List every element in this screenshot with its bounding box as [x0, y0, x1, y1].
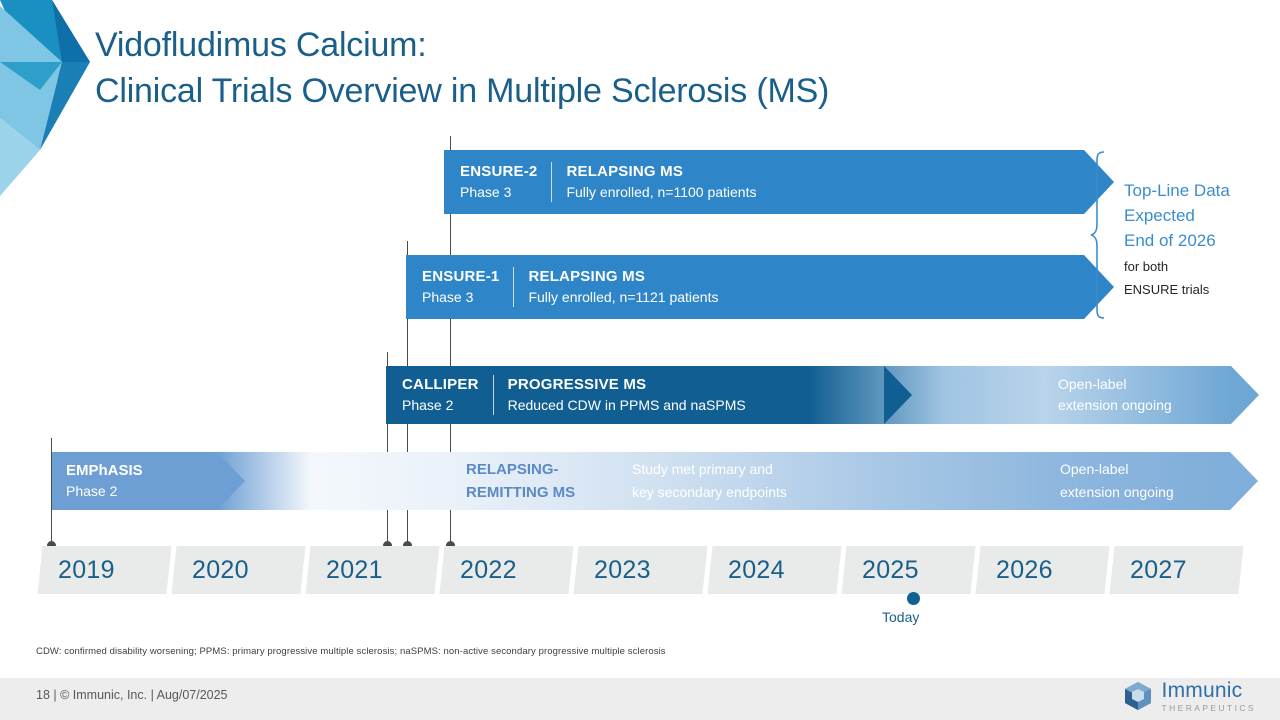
extension-line-2: extension ongoing: [1058, 395, 1172, 416]
annotation-line-3: End of 2026: [1124, 228, 1274, 253]
timeline-year-2020[interactable]: 2020: [171, 546, 305, 594]
annotation-line-2: Expected: [1124, 203, 1274, 228]
trial-bar-emphasis[interactable]: EMPhASIS Phase 2 RELAPSING- REMITTING MS…: [52, 452, 1230, 510]
chevron-arrowhead-icon: [1230, 452, 1258, 510]
topline-data-annotation: Top-Line Data Expected End of 2026 for b…: [1124, 178, 1274, 299]
condition-line-2: REMITTING MS: [466, 481, 626, 504]
year-label: 2020: [174, 546, 303, 594]
today-label: Today: [882, 609, 919, 625]
trial-code-ensure-2: ENSURE-2 Phase 3: [444, 162, 537, 203]
trial-name: ENSURE-1: [422, 267, 499, 287]
trial-phase: Phase 2: [402, 395, 479, 416]
immunic-logo: Immunic THERAPEUTICS: [1122, 676, 1256, 716]
year-label: 2021: [308, 546, 437, 594]
abbreviations-footnote: CDW: confirmed disability worsening; PPM…: [36, 646, 666, 657]
trial-bar-ensure-1[interactable]: ENSURE-1 Phase 3 RELAPSING MS Fully enro…: [406, 255, 1084, 319]
trial-name: CALLIPER: [402, 375, 479, 395]
divider: [551, 162, 552, 202]
timeline-year-2025[interactable]: 2025: [841, 546, 975, 594]
trial-condition-emphasis: RELAPSING- REMITTING MS: [466, 452, 626, 510]
today-marker-dot: [907, 592, 920, 605]
timeline-year-2022[interactable]: 2022: [439, 546, 573, 594]
timeline-year-2024[interactable]: 2024: [707, 546, 841, 594]
page-title: Vidofludimus Calcium: Clinical Trials Ov…: [95, 22, 1095, 114]
timeline-year-2026[interactable]: 2026: [975, 546, 1109, 594]
logo-tagline: THERAPEUTICS: [1162, 704, 1256, 713]
title-line-2: Clinical Trials Overview in Multiple Scl…: [95, 68, 1095, 114]
annotation-sub-line-1: for both: [1124, 257, 1274, 276]
divider: [513, 267, 514, 307]
slide-canvas: Vidofludimus Calcium: Clinical Trials Ov…: [0, 0, 1280, 720]
annotation-line-1: Top-Line Data: [1124, 178, 1274, 203]
trial-extension-calliper: Open-label extension ongoing: [1058, 366, 1172, 424]
trial-phase: Phase 3: [460, 182, 537, 203]
trial-code-emphasis: EMPhASIS Phase 2: [66, 452, 143, 510]
trial-extension-emphasis: Open-label extension ongoing: [1060, 452, 1174, 510]
trial-status: Fully enrolled, n=1100 patients: [566, 182, 1084, 203]
extension-line-1: Open-label: [1060, 458, 1174, 481]
year-label: 2022: [442, 546, 571, 594]
result-line-1: Study met primary and: [632, 458, 892, 481]
year-label: 2019: [40, 546, 169, 594]
grouping-brace-icon: [1090, 150, 1106, 320]
logo-wordmark: Immunic THERAPEUTICS: [1162, 680, 1256, 713]
trial-phase: Phase 3: [422, 287, 499, 308]
timeline-year-2027[interactable]: 2027: [1109, 546, 1243, 594]
extension-line-2: extension ongoing: [1060, 481, 1174, 504]
logo-name: Immunic: [1162, 680, 1256, 701]
year-label: 2027: [1112, 546, 1241, 594]
trial-code-calliper: CALLIPER Phase 2: [386, 375, 479, 416]
extension-line-1: Open-label: [1058, 374, 1172, 395]
year-label: 2026: [978, 546, 1107, 594]
trial-details-ensure-2: RELAPSING MS Fully enrolled, n=1100 pati…: [566, 162, 1084, 203]
title-line-1: Vidofludimus Calcium:: [95, 26, 427, 64]
trial-condition: RELAPSING MS: [566, 162, 1084, 182]
year-label: 2023: [576, 546, 705, 594]
trial-details-ensure-1: RELAPSING MS Fully enrolled, n=1121 pati…: [528, 267, 1084, 308]
timeline-year-2019[interactable]: 2019: [37, 546, 171, 594]
result-line-2: key secondary endpoints: [632, 481, 892, 504]
year-label: 2024: [710, 546, 839, 594]
trial-phase: Phase 2: [66, 481, 143, 502]
trial-bar-calliper[interactable]: CALLIPER Phase 2 PROGRESSIVE MS Reduced …: [386, 366, 1231, 424]
trial-name: EMPhASIS: [66, 461, 143, 481]
inner-chevron-icon: [217, 452, 245, 510]
chevron-arrowhead-icon: [1231, 366, 1259, 424]
trial-name: ENSURE-2: [460, 162, 537, 182]
trial-result-emphasis: Study met primary and key secondary endp…: [632, 452, 892, 510]
trial-status: Fully enrolled, n=1121 patients: [528, 287, 1084, 308]
timeline-year-2021[interactable]: 2021: [305, 546, 439, 594]
timeline-year-2023[interactable]: 2023: [573, 546, 707, 594]
divider: [493, 375, 494, 415]
annotation-sub-line-2: ENSURE trials: [1124, 280, 1274, 299]
trial-bar-ensure-2[interactable]: ENSURE-2 Phase 3 RELAPSING MS Fully enro…: [444, 150, 1084, 214]
year-label: 2025: [844, 546, 973, 594]
trial-code-ensure-1: ENSURE-1 Phase 3: [406, 267, 499, 308]
condition-line-1: RELAPSING-: [466, 458, 626, 481]
immunic-diamond-icon: [1122, 680, 1154, 712]
footer-text: 18 | © Immunic, Inc. | Aug/07/2025: [36, 688, 228, 702]
trial-condition: RELAPSING MS: [528, 267, 1084, 287]
